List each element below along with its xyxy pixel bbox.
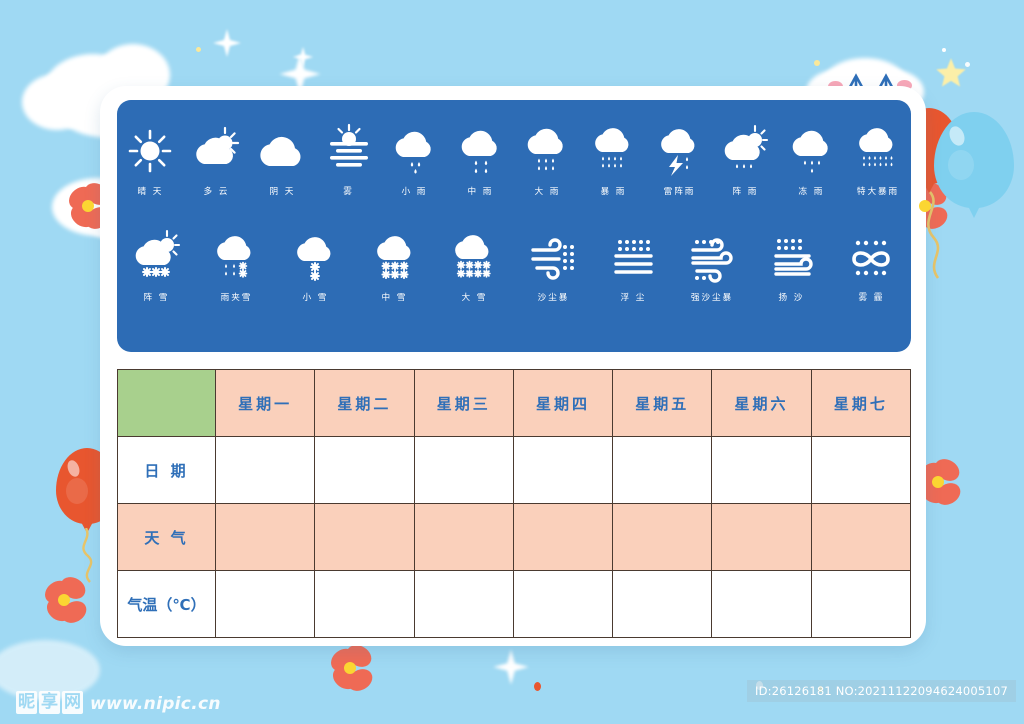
partly-cloudy-icon (187, 122, 245, 180)
legend-item-label: 沙尘暴 (538, 290, 570, 302)
balloon-knot (968, 206, 980, 218)
table-row-weather: 天 气 (118, 504, 911, 571)
date-cell-saturday[interactable] (712, 437, 811, 504)
date-cell-monday[interactable] (216, 437, 315, 504)
balloon-blue (934, 112, 1014, 208)
legend-item-label: 多 云 (203, 184, 229, 196)
sparkle-dot (534, 682, 541, 691)
legend-item-label: 扬 沙 (779, 290, 805, 302)
table-header-row: 星期一 星期二 星期三 星期四 星期五 星期六 星期七 (118, 370, 911, 437)
cloud-decoration (22, 74, 92, 130)
watermark-url: www.nipic.cn (90, 695, 221, 714)
legend-item-heavy-rain[interactable]: 大 雨 (515, 122, 579, 197)
legend-item-label: 雾 (343, 184, 354, 196)
fog-icon (320, 122, 378, 180)
date-cell-thursday[interactable] (513, 437, 612, 504)
legend-item-label: 阴 天 (269, 184, 295, 196)
temp-cell-thursday[interactable] (513, 571, 612, 638)
legend-item-label: 特大暴雨 (857, 184, 899, 196)
watermark-logo-char-2: 享 (39, 691, 60, 714)
legend-item-label: 暴 雨 (600, 184, 626, 196)
blowing-sand-icon (763, 228, 821, 286)
legend-item-floating-dust[interactable]: 浮 尘 (601, 228, 665, 303)
legend-item-label: 大 雨 (534, 184, 560, 196)
legend-item-sandstorm[interactable]: 沙尘暴 (522, 228, 586, 303)
heavy-rain-icon (518, 122, 576, 180)
watermark-logo-char-1: 昵 (16, 691, 37, 714)
weather-cell-sunday[interactable] (811, 504, 910, 571)
weather-cell-tuesday[interactable] (315, 504, 414, 571)
legend-item-partly-cloudy[interactable]: 多 云 (184, 122, 248, 197)
strong-sandstorm-icon (683, 228, 741, 286)
rainstorm-icon (584, 122, 642, 180)
star-decoration (212, 28, 242, 58)
floating-dust-icon (604, 228, 662, 286)
legend-item-sunny[interactable]: 晴 天 (118, 122, 182, 197)
watermark-logo-char-3: 网 (62, 691, 83, 714)
weather-cell-wednesday[interactable] (414, 504, 513, 571)
sparkle-dot (965, 62, 970, 67)
legend-item-label: 中 雨 (468, 184, 494, 196)
temp-cell-sunday[interactable] (811, 571, 910, 638)
column-header-monday[interactable]: 星期一 (216, 370, 315, 437)
shower-icon (716, 122, 774, 180)
balloon-highlight (65, 459, 81, 479)
heavy-snow-icon (445, 228, 503, 286)
weather-cell-thursday[interactable] (513, 504, 612, 571)
legend-item-label: 大 雪 (461, 290, 487, 302)
moderate-snow-icon (366, 228, 424, 286)
date-cell-friday[interactable] (613, 437, 712, 504)
light-snow-icon (286, 228, 344, 286)
weather-cell-friday[interactable] (613, 504, 712, 571)
sleet-icon (207, 228, 265, 286)
sunny-icon (121, 122, 179, 180)
legend-item-heavy-snow[interactable]: 大 雪 (442, 228, 506, 303)
legend-row-2: 阵 雪 (117, 228, 911, 303)
legend-item-moderate-snow[interactable]: 中 雪 (363, 228, 427, 303)
snow-shower-icon (128, 228, 186, 286)
row-header-temperature: 气温（℃） (118, 571, 216, 638)
date-cell-tuesday[interactable] (315, 437, 414, 504)
balloon-highlight (948, 150, 974, 180)
temp-cell-wednesday[interactable] (414, 571, 513, 638)
legend-item-blowing-sand[interactable]: 扬 沙 (760, 228, 824, 303)
sparkle-dot (196, 47, 201, 52)
legend-item-thundershower[interactable]: 雷阵雨 (647, 122, 711, 197)
legend-item-shower[interactable]: 阵 雨 (713, 122, 777, 197)
row-header-date: 日 期 (118, 437, 216, 504)
legend-item-cloudy[interactable]: 阴 天 (250, 122, 314, 197)
legend-item-light-rain[interactable]: 小 雨 (383, 122, 447, 197)
table-row-temperature: 气温（℃） (118, 571, 911, 638)
legend-item-label: 雷阵雨 (663, 184, 695, 196)
legend-item-strong-sandstorm[interactable]: 强沙尘暴 (680, 228, 744, 303)
temp-cell-tuesday[interactable] (315, 571, 414, 638)
legend-item-label: 强沙尘暴 (691, 290, 733, 302)
legend-row-1: 晴 天 多 云 (117, 122, 911, 197)
legend-item-label: 雾 霾 (858, 290, 884, 302)
column-header-friday[interactable]: 星期五 (613, 370, 712, 437)
column-header-saturday[interactable]: 星期六 (712, 370, 811, 437)
balloon-knot (81, 522, 93, 533)
moderate-rain-icon (452, 122, 510, 180)
weather-cell-saturday[interactable] (712, 504, 811, 571)
temp-cell-monday[interactable] (216, 571, 315, 638)
legend-item-label: 阵 雨 (733, 184, 759, 196)
haze-icon (842, 228, 900, 286)
weather-cell-monday[interactable] (216, 504, 315, 571)
column-header-thursday[interactable]: 星期四 (513, 370, 612, 437)
temp-cell-saturday[interactable] (712, 571, 811, 638)
flower-decoration (330, 648, 384, 698)
balloon-highlight (947, 124, 967, 148)
column-header-tuesday[interactable]: 星期二 (315, 370, 414, 437)
legend-item-label: 小 雪 (303, 290, 329, 302)
extreme-rainstorm-icon (849, 122, 907, 180)
weather-legend-panel: 晴 天 多 云 (117, 100, 911, 352)
legend-item-rainstorm[interactable]: 暴 雨 (581, 122, 645, 197)
legend-item-haze[interactable]: 雾 霾 (839, 228, 903, 303)
star-decoration (292, 46, 314, 68)
star-decoration (492, 648, 530, 686)
legend-item-extreme-rainstorm[interactable]: 特大暴雨 (846, 122, 910, 197)
thundershower-icon (650, 122, 708, 180)
watermark-logo: 昵 享 网 (16, 691, 83, 714)
balloon-highlight (66, 478, 88, 504)
column-header-sunday[interactable]: 星期七 (811, 370, 910, 437)
freezing-rain-icon (783, 122, 841, 180)
legend-item-fog[interactable]: 雾 (317, 122, 381, 197)
row-header-weather: 天 气 (118, 504, 216, 571)
weekly-weather-table: 星期一 星期二 星期三 星期四 星期五 星期六 星期七 日 期 天 气 (117, 369, 911, 638)
watermark-id-badge: ID:26126181 NO:20211122094624005107 (747, 680, 1016, 702)
flower-decoration (918, 462, 972, 512)
sparkle-dot (814, 60, 820, 66)
flower-decoration (44, 580, 98, 630)
light-rain-icon (386, 122, 444, 180)
legend-item-label: 小 雨 (402, 184, 428, 196)
cloudy-icon (253, 122, 311, 180)
legend-item-freezing-rain[interactable]: 冻 雨 (780, 122, 844, 197)
legend-item-label: 阵 雪 (144, 290, 170, 302)
site-watermark: 昵 享 网 www.nipic.cn (16, 691, 221, 714)
sandstorm-icon (525, 228, 583, 286)
legend-item-moderate-rain[interactable]: 中 雨 (449, 122, 513, 197)
sparkle-dot (942, 48, 946, 52)
legend-item-light-snow[interactable]: 小 雪 (283, 228, 347, 303)
legend-item-label: 冻 雨 (799, 184, 825, 196)
table-corner-cell (118, 370, 216, 437)
column-header-wednesday[interactable]: 星期三 (414, 370, 513, 437)
legend-item-label: 晴 天 (137, 184, 163, 196)
star-decoration-yellow (934, 56, 968, 90)
temp-cell-friday[interactable] (613, 571, 712, 638)
legend-item-label: 中 雪 (382, 290, 408, 302)
date-cell-sunday[interactable] (811, 437, 910, 504)
date-cell-wednesday[interactable] (414, 437, 513, 504)
table-row-date: 日 期 (118, 437, 911, 504)
poster-canvas: 晴 天 多 云 (0, 0, 1024, 724)
legend-item-sleet[interactable]: 雨夹雪 (204, 228, 268, 303)
legend-item-label: 浮 尘 (620, 290, 646, 302)
legend-item-snow-shower[interactable]: 阵 雪 (125, 228, 189, 303)
legend-item-label: 雨夹雪 (220, 290, 252, 302)
